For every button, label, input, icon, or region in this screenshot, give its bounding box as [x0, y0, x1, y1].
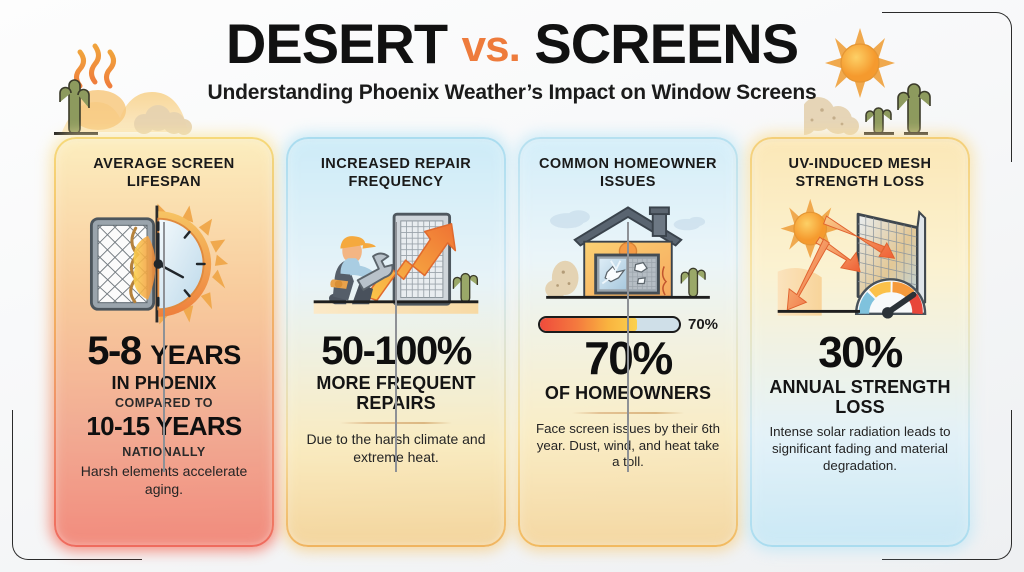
stat-number: 30%	[818, 328, 902, 377]
card-separator	[627, 222, 629, 472]
card-slot-3: COMMON HOMEOWNER ISSUES	[512, 142, 744, 542]
card-figure	[765, 196, 955, 331]
card-separator	[163, 222, 165, 472]
title-part-1: DESERT	[226, 12, 447, 75]
progress-track	[538, 316, 681, 333]
cactus-icon	[681, 268, 705, 297]
stat-card-uv-induced-mesh-strength-loss[interactable]: UV-INDUCED MESH STRENGTH LOSS	[755, 142, 965, 542]
card-title: UV-INDUCED MESH STRENGTH LOSS	[765, 156, 955, 192]
stat-card-row: AVERAGE SCREEN LIFESPAN	[0, 142, 1024, 542]
card-stat-value: 30%	[818, 331, 902, 375]
title-vs: vs.	[462, 22, 520, 71]
cactus-icon	[453, 273, 477, 302]
card-stat-sub: ANNUAL STRENGTH LOSS	[765, 377, 955, 417]
sun-rays-mesh-gauge-icon	[771, 197, 949, 331]
title-part-2: SCREENS	[534, 12, 798, 75]
header: DESERT vs. SCREENS Understanding Phoenix…	[0, 16, 1024, 105]
page-title: DESERT vs. SCREENS	[0, 16, 1024, 72]
card-slot-4: UV-INDUCED MESH STRENGTH LOSS	[744, 142, 976, 542]
card-separator	[395, 222, 397, 472]
card-description: Intense solar radiation leads to signifi…	[765, 424, 955, 474]
card-slot-2: INCREASED REPAIR FREQUENCY	[280, 142, 512, 542]
page-subtitle: Understanding Phoenix Weather’s Impact o…	[0, 81, 1024, 105]
stat-number: 5-8	[87, 329, 140, 373]
card-title: INCREASED REPAIR FREQUENCY	[301, 156, 491, 192]
worker-icon	[329, 236, 392, 304]
card-title: AVERAGE SCREEN LIFESPAN	[69, 156, 259, 192]
progress-fill	[540, 318, 637, 331]
card-slot-1: AVERAGE SCREEN LIFESPAN	[48, 142, 280, 542]
dust-cloud-icon	[545, 261, 578, 299]
progress-label: 70%	[688, 316, 718, 333]
card-title: COMMON HOMEOWNER ISSUES	[533, 156, 723, 192]
small-cactus-icon	[864, 108, 894, 135]
